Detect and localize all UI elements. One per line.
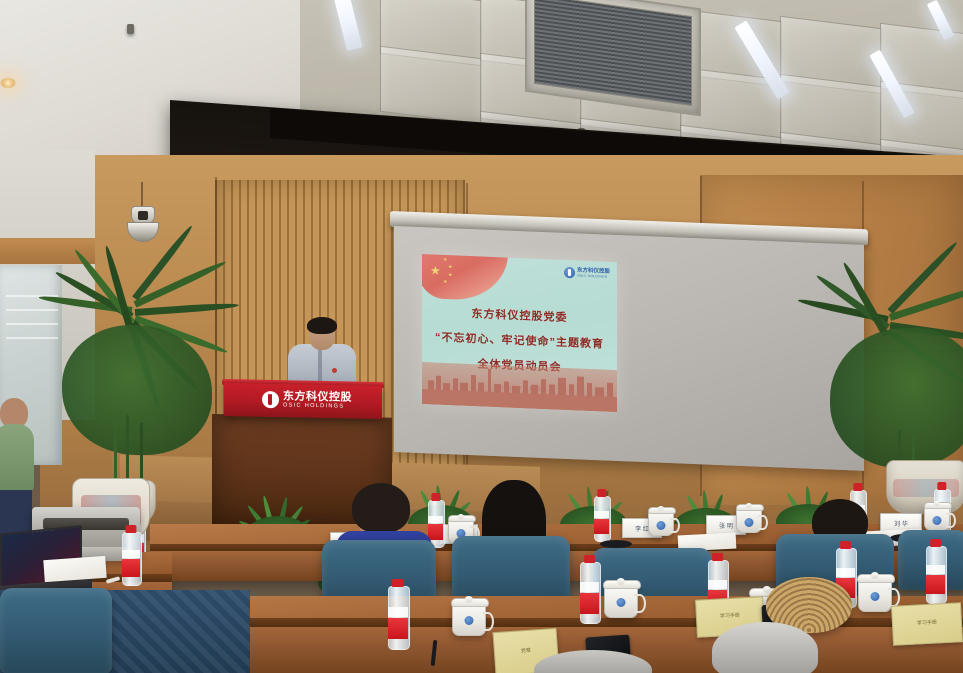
name-card-label: 李 红 (635, 524, 649, 533)
water-bottle (594, 496, 609, 540)
flag-star-icon: ★ (443, 258, 447, 263)
water-bottle (122, 532, 140, 584)
flag-star-icon: ★ (430, 264, 441, 276)
skyline-tower (488, 369, 491, 393)
bottle-label-band (594, 511, 609, 518)
bottle-cap (712, 553, 724, 561)
palm-frond (135, 302, 239, 316)
water-bottle (388, 586, 408, 648)
podium-company-logo: 东方科仪控股 OSIC HOLDINGS (262, 390, 352, 410)
bottle-label-band (388, 607, 408, 617)
attendee-foreground (700, 622, 830, 673)
skyline-building (541, 379, 546, 395)
podium-logo-en: OSIC HOLDINGS (283, 402, 352, 409)
bottle-label-band (708, 580, 727, 589)
bottle-cap (840, 541, 852, 549)
porcelain-mug (648, 510, 674, 536)
bottle-label (594, 519, 609, 534)
skyline-building (577, 376, 584, 396)
mug-logo-icon (465, 616, 474, 625)
study-booklet: 学习手册 (891, 602, 963, 646)
slide-theme-line: “不忘初心、牢记使命”主题教育 (422, 328, 617, 352)
bottle-label-band (836, 568, 855, 577)
mug-logo-icon (871, 592, 880, 601)
bottle-label-band (122, 550, 140, 558)
camera-lens-icon (138, 211, 148, 220)
flag-star-icon: ★ (448, 265, 452, 270)
bottle-label (122, 559, 140, 577)
porcelain-mug (452, 602, 486, 636)
sprinkler-head (127, 24, 134, 34)
attendee-hair (534, 650, 652, 673)
speaker-hair (307, 317, 337, 334)
palm-foliage-mass (62, 325, 212, 455)
slide-skyline-graphic (422, 362, 617, 412)
mug-handle (634, 594, 646, 613)
booklet-title: 学习手册 (720, 613, 740, 622)
skyline-building (436, 376, 441, 391)
bottle-label (580, 593, 599, 613)
slide-organization-line: 东方科仪控股党委 (422, 303, 617, 327)
porcelain-mug (858, 578, 892, 612)
bottle-cap (125, 525, 136, 533)
mug-handle (758, 515, 768, 530)
bottle-cap (853, 483, 862, 491)
name-card-label: 刘 华 (894, 519, 908, 528)
porcelain-mug (604, 584, 638, 618)
bottle-cap (392, 579, 404, 587)
bottle-cap (597, 489, 606, 497)
osic-logo-mark-icon (564, 267, 575, 278)
attendee-hair (712, 622, 818, 673)
bottle-body (580, 562, 601, 624)
conference-room-photo: ★ ★ ★ ★ ★ 东方科仪控股 OSIC HOLDINGS 东方科仪控股党委 … (0, 0, 963, 673)
palm-foliage-mass (830, 328, 963, 468)
china-flag-graphic: ★ ★ ★ ★ ★ (422, 254, 508, 302)
bottle-label-band (580, 582, 599, 592)
projected-slide: ★ ★ ★ ★ ★ 东方科仪控股 OSIC HOLDINGS 东方科仪控股党委 … (422, 254, 617, 412)
bottle-label (388, 618, 408, 639)
booklet-title: 党章 (521, 648, 532, 656)
bottle-body (388, 586, 410, 650)
document-sheet (43, 556, 106, 582)
bottle-body (594, 496, 611, 542)
chair[interactable] (0, 588, 112, 673)
water-bottle (580, 562, 599, 622)
attendee-left-green (0, 398, 38, 518)
ceiling-downlight (0, 78, 16, 88)
water-bottle (926, 546, 945, 602)
bottle-label-band (926, 565, 945, 574)
mug-logo-icon (933, 516, 942, 525)
attendee-foreground-2 (534, 650, 654, 673)
mug-handle (482, 612, 494, 631)
party-pin-icon (332, 368, 337, 373)
camera-cable (141, 182, 143, 208)
bottle-label (926, 575, 945, 594)
bottle-cap (584, 555, 596, 563)
attendee-hair (352, 483, 410, 533)
skyline-building (558, 378, 566, 396)
bottle-body (926, 546, 947, 604)
mug-handle (670, 518, 680, 533)
ac-grill (534, 0, 692, 106)
porcelain-mug (924, 505, 950, 531)
bottle-cap (930, 539, 942, 547)
porcelain-mug (736, 507, 762, 533)
attendee-torso (0, 424, 34, 492)
booklet-title: 学习手册 (917, 620, 937, 629)
mug-logo-icon (657, 521, 666, 530)
flag-star-icon: ★ (443, 280, 447, 285)
slide-logo-en: OSIC HOLDINGS (577, 274, 610, 279)
skyline-building (471, 375, 476, 392)
osic-logo-mark-icon (262, 391, 279, 408)
name-card-label: 张 明 (719, 521, 733, 530)
skyline-building (607, 383, 613, 398)
microphone-base (600, 540, 632, 548)
mug-logo-icon (617, 598, 626, 607)
slide-company-logo: 东方科仪控股 OSIC HOLDINGS (564, 267, 610, 280)
mug-handle (946, 513, 956, 528)
mug-logo-icon (745, 518, 754, 527)
ceiling-tile (380, 46, 482, 125)
mug-handle (888, 588, 900, 607)
bottle-body (122, 532, 142, 586)
flag-star-icon: ★ (448, 273, 452, 278)
bottle-cap (937, 482, 946, 490)
